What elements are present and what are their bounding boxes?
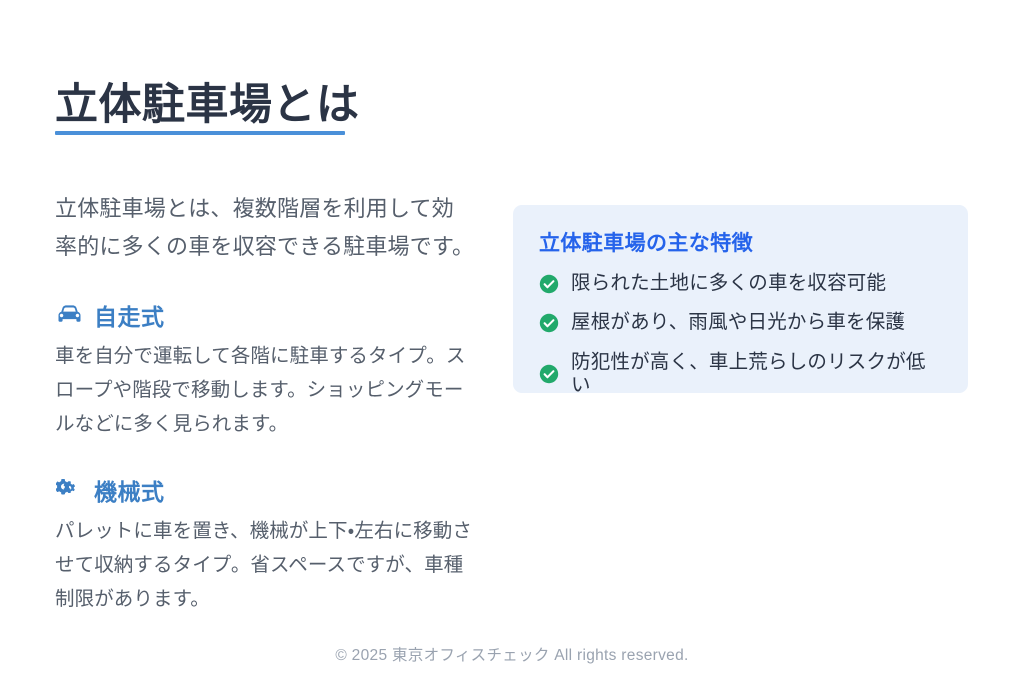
check-circle-icon (539, 313, 559, 333)
page-title: 立体駐車場とは (55, 81, 360, 130)
section-jisoshiki: 自走式 車を自分で運転して各階に駐車するタイプ。スロープや階段で移動します。ショ… (55, 298, 475, 442)
intro-paragraph: 立体駐車場とは、複数階層を利用して効率的に多くの車を収容できる駐車場です。 (55, 190, 475, 266)
list-item: 屋根があり、雨風や日光から車を保護 (539, 311, 942, 334)
feature-list: 限られた土地に多くの車を収容可能 屋根があり、雨風や日光から車を保護 (539, 272, 942, 398)
list-item: 限られた土地に多くの車を収容可能 (539, 272, 942, 295)
list-item: 防犯性が高く、車上荒らしのリスクが低い (539, 351, 942, 398)
section-heading-jisoshiki: 自走式 (55, 298, 475, 332)
footer-copyright: © 2025 東京オフィスチェック All rights reserved. (0, 643, 1024, 665)
feature-panel-title: 立体駐車場の主な特徴 (539, 227, 942, 257)
slide-canvas: 立体駐車場とは 立体駐車場とは、複数階層を利用して効率的に多くの車を収容できる駐… (0, 0, 1024, 683)
list-item-label: 防犯性が高く、車上荒らしのリスクが低い (571, 351, 942, 398)
section-heading-label: 機械式 (94, 473, 165, 507)
section-body-kikaishiki: パレットに車を置き、機械が上下・左右に移動させて収納するタイプ。省スペースですが… (55, 515, 475, 617)
check-circle-icon (539, 274, 559, 294)
left-content-column: 立体駐車場とは、複数階層を利用して効率的に多くの車を収容できる駐車場です。 自走… (55, 190, 475, 617)
feature-panel: 立体駐車場の主な特徴 限られた土地に多くの車を収容可能 (513, 205, 968, 393)
check-circle-icon (539, 364, 559, 384)
section-heading-kikaishiki: 機械式 (55, 473, 475, 507)
section-body-jisoshiki: 車を自分で運転して各階に駐車するタイプ。スロープや階段で移動します。ショッピング… (55, 340, 475, 442)
list-item-label: 屋根があり、雨風や日光から車を保護 (571, 311, 905, 334)
section-heading-label: 自走式 (94, 298, 165, 332)
section-kikaishiki: 機械式 パレットに車を置き、機械が上下・左右に移動させて収納するタイプ。省スペー… (55, 473, 475, 617)
gears-icon (55, 477, 83, 503)
title-underline-rule (55, 131, 345, 135)
car-icon (55, 302, 83, 328)
list-item-label: 限られた土地に多くの車を収容可能 (571, 272, 886, 295)
